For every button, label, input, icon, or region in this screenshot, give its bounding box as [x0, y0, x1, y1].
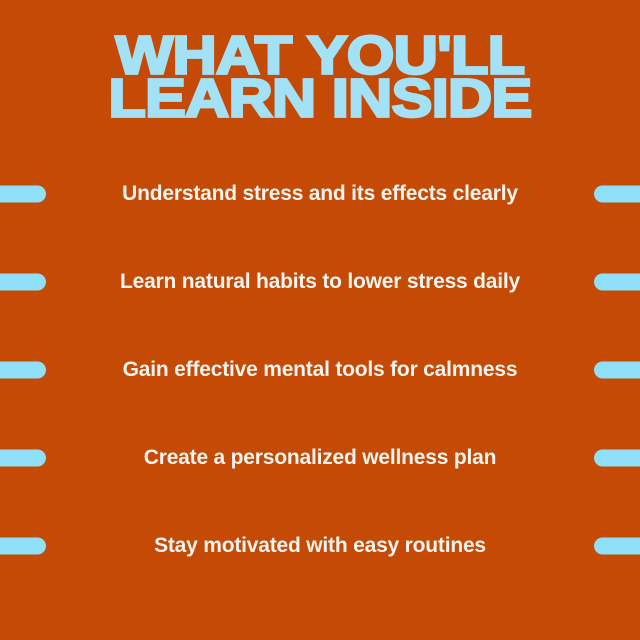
- pill-right-icon: [594, 538, 640, 555]
- pill-left-icon: [0, 186, 46, 203]
- list-item: Learn natural habits to lower stress dai…: [0, 238, 640, 326]
- list-item: Create a personalized wellness plan: [0, 414, 640, 502]
- list-item-label: Create a personalized wellness plan: [144, 445, 496, 471]
- pill-right-icon: [594, 362, 640, 379]
- title-line-2: LEARN INSIDE: [0, 75, 640, 120]
- list-item: Stay motivated with easy routines: [0, 502, 640, 590]
- list-item: Gain effective mental tools for calmness: [0, 326, 640, 414]
- pill-right-icon: [594, 274, 640, 291]
- list-item-label: Learn natural habits to lower stress dai…: [120, 269, 520, 295]
- pill-left-icon: [0, 274, 46, 291]
- pill-right-icon: [594, 450, 640, 467]
- page-title: WHAT YOU'LL LEARN INSIDE: [0, 34, 640, 119]
- poster-canvas: WHAT YOU'LL LEARN INSIDE Understand stre…: [0, 0, 640, 640]
- pill-left-icon: [0, 450, 46, 467]
- list-item-label: Stay motivated with easy routines: [154, 533, 486, 559]
- pill-left-icon: [0, 362, 46, 379]
- pill-right-icon: [594, 186, 640, 203]
- pill-left-icon: [0, 538, 46, 555]
- list-item-label: Understand stress and its effects clearl…: [122, 181, 518, 207]
- list-item: Understand stress and its effects clearl…: [0, 150, 640, 238]
- list-item-label: Gain effective mental tools for calmness: [123, 357, 518, 383]
- benefits-list: Understand stress and its effects clearl…: [0, 150, 640, 590]
